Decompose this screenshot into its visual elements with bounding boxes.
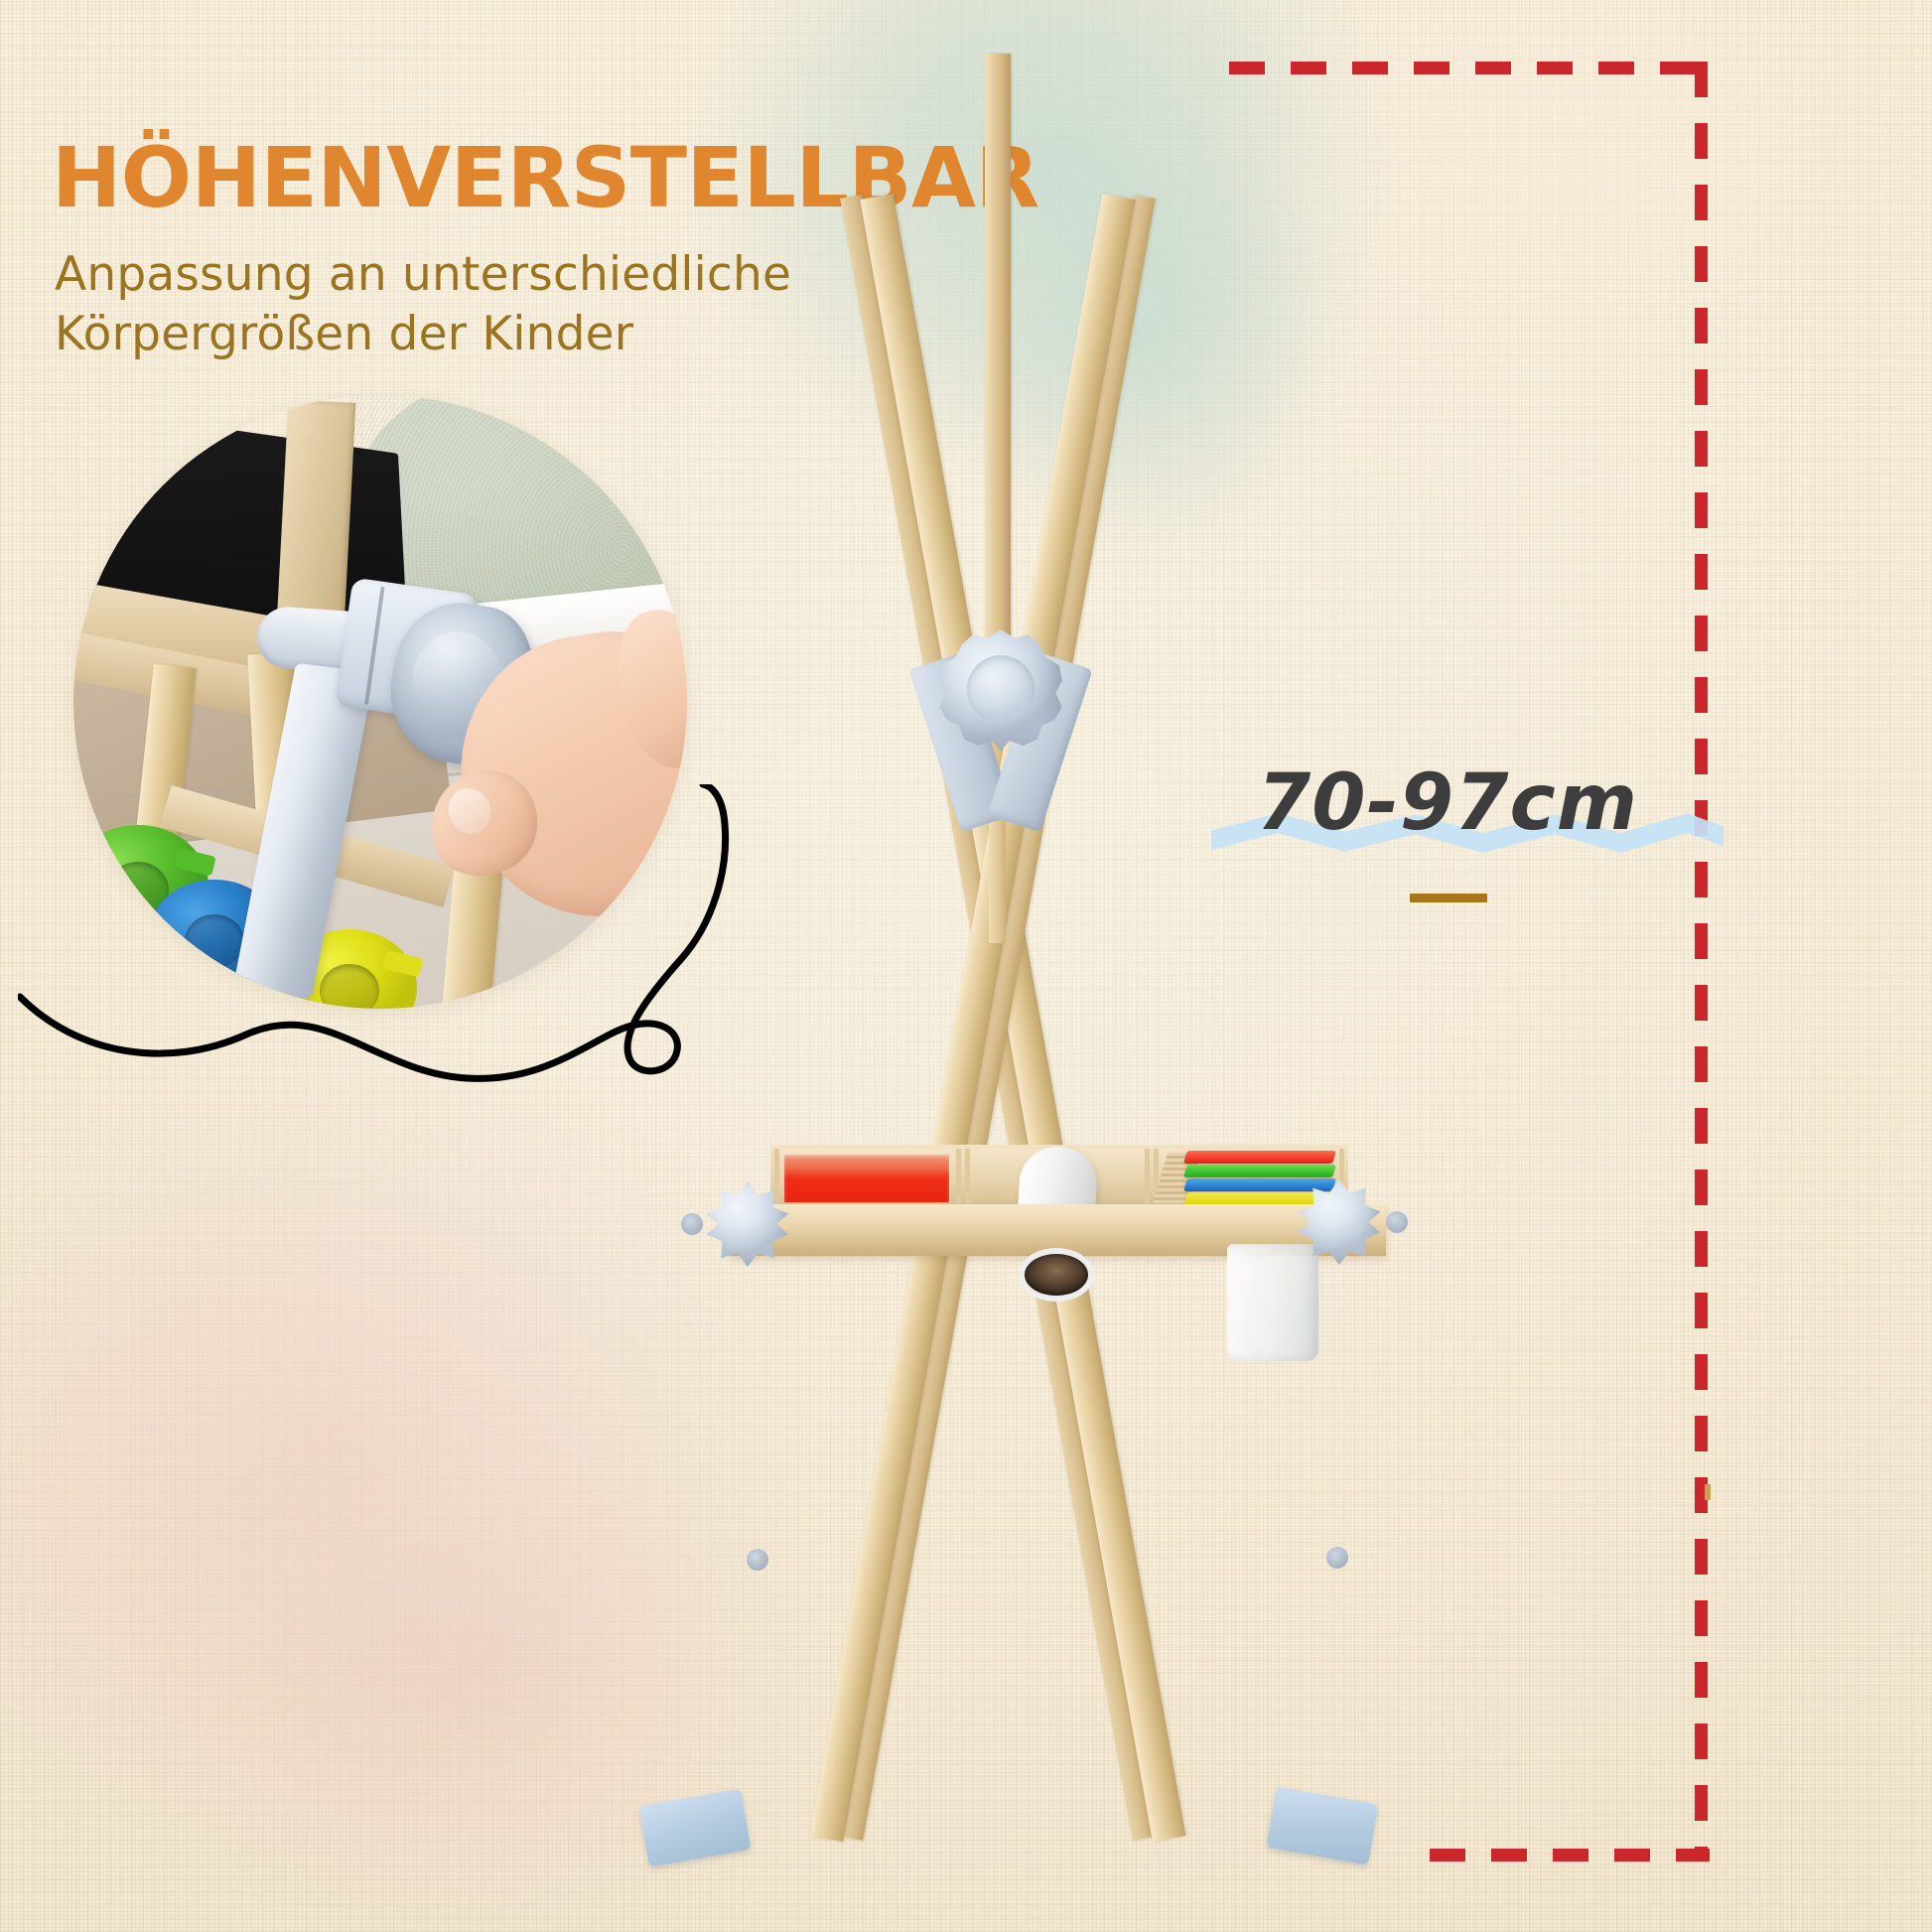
- measurement-underline: [1410, 894, 1487, 902]
- measurement-callout: 70-97cm: [1211, 743, 1727, 911]
- marker-green: [1183, 1165, 1336, 1177]
- knob-center: [967, 655, 1035, 723]
- dimension-stub: [1705, 1484, 1711, 1500]
- paper-roll-core: [1025, 1254, 1088, 1296]
- product-easel: [635, 40, 1489, 1926]
- bolt-lower-left: [747, 1549, 768, 1571]
- easel-top-hub: [901, 625, 1100, 824]
- marketing-banner: HÖHENVERSTELLBAR Anpassung an unterschie…: [0, 0, 1932, 1932]
- easel-leg-right: [810, 194, 1136, 1842]
- easel-foot-right: [1266, 1786, 1378, 1864]
- easel-leg-left: [860, 194, 1185, 1842]
- bolt-lower-right: [1326, 1547, 1348, 1569]
- measurement-label: 70-97cm: [1257, 764, 1638, 842]
- easel-accessory-tray: [731, 1127, 1386, 1286]
- bolt-upper-left: [681, 1213, 703, 1235]
- dimension-line-right: [1695, 62, 1708, 1861]
- tray-red-block: [784, 1155, 949, 1202]
- easel-foot-left: [638, 1788, 751, 1866]
- marker-red: [1183, 1151, 1336, 1164]
- inset-scene: [73, 395, 687, 1009]
- height-adjust-knob[interactable]: [938, 629, 1063, 755]
- storage-cup: [1227, 1244, 1318, 1361]
- inset-photo-height-adjustment: [73, 395, 687, 1009]
- bolt-upper-right: [1386, 1211, 1408, 1233]
